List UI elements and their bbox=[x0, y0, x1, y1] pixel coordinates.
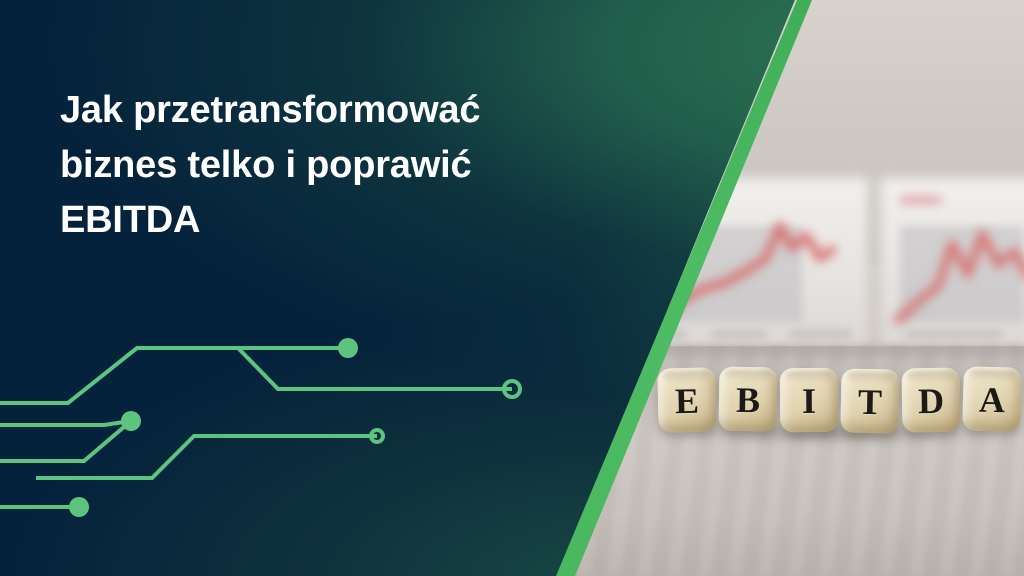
dice-row: E B I T D A bbox=[658, 368, 1021, 432]
die-4: T bbox=[840, 368, 899, 433]
circuit-decoration-graphic bbox=[0, 300, 600, 576]
die-letter-4: T bbox=[858, 384, 883, 420]
die-letter-3: I bbox=[802, 383, 816, 419]
circuit-filled-node-lower bbox=[69, 497, 89, 517]
die-1: E bbox=[657, 367, 716, 432]
die-2: B bbox=[719, 367, 778, 432]
circuit-path-1 bbox=[0, 348, 352, 403]
newspaper-footer-c bbox=[790, 330, 852, 338]
die-letter-1: E bbox=[675, 383, 700, 419]
die-3: I bbox=[780, 368, 838, 432]
circuit-filled-node-mid bbox=[121, 411, 141, 431]
promo-banner: E B I T D A Jak przetransformować biznes… bbox=[0, 0, 1024, 576]
newspaper-footer-d bbox=[906, 330, 1002, 338]
die-letter-5: D bbox=[918, 383, 945, 419]
newspaper-footer-b bbox=[712, 330, 766, 338]
page-title: Jak przetransformować biznes telko i pop… bbox=[60, 83, 620, 248]
circuit-filled-node-upper bbox=[338, 338, 358, 358]
die-letter-6: A bbox=[979, 382, 1006, 419]
circuit-path-3 bbox=[0, 421, 131, 425]
circuit-path-2 bbox=[238, 348, 512, 389]
newspaper-redline-chart-right bbox=[880, 190, 1024, 340]
die-6: A bbox=[962, 366, 1022, 431]
die-letter-2: B bbox=[736, 382, 761, 418]
die-5: D bbox=[902, 368, 961, 433]
